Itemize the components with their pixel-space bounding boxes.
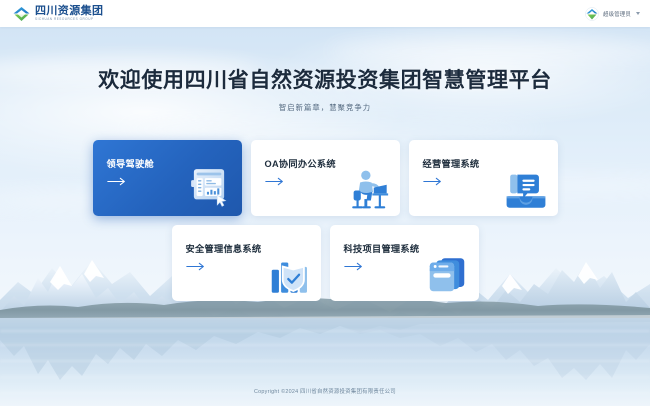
- cloud-wisp: [120, 120, 540, 138]
- hero-section: 欢迎使用四川省自然资源投资集团智慧管理平台 智启新篇章，慧聚竞争力: [0, 27, 650, 113]
- brand-name-en: SICHUAN RESOURCES GROUP: [35, 16, 103, 21]
- page-footer: Copyright ©2024 四川省自然资源投资集团有限责任公司: [0, 387, 650, 395]
- arrow-right-icon: [107, 177, 128, 186]
- system-entry-cards: 领导驾驶舱: [0, 140, 650, 301]
- card-label: 安全管理信息系统: [186, 241, 262, 255]
- water-shimmer: [0, 360, 650, 362]
- card-leadership-cockpit[interactable]: 领导驾驶舱: [93, 140, 242, 216]
- arrow-right-icon: [265, 177, 286, 186]
- page-subtitle: 智启新篇章，慧聚竞争力: [0, 103, 650, 113]
- arrow-right-icon: [186, 262, 207, 271]
- brand-name-cn: 四川资源集团: [35, 6, 103, 17]
- user-avatar-icon: [585, 7, 599, 21]
- card-label: 领导驾驶舱: [107, 156, 154, 170]
- person-at-desk-icon: [345, 166, 391, 212]
- stacked-windows-icon: [424, 251, 470, 297]
- user-name-label: 超级管理员: [603, 10, 631, 18]
- arrow-right-icon: [423, 177, 444, 186]
- water-shimmer: [0, 344, 650, 346]
- document-book-icon: [503, 166, 549, 212]
- water-shimmer: [0, 376, 650, 378]
- card-label: OA协同办公系统: [265, 156, 336, 170]
- app-header: 四川资源集团 SICHUAN RESOURCES GROUP 超级管理员: [0, 0, 650, 27]
- lake-reflection: [0, 318, 650, 380]
- user-menu[interactable]: 超级管理员: [585, 7, 640, 21]
- card-oa-system[interactable]: OA协同办公系统: [251, 140, 400, 216]
- bar-chart-shield-icon: [266, 251, 312, 297]
- card-label: 经营管理系统: [423, 156, 480, 170]
- chevron-down-icon[interactable]: [636, 12, 640, 15]
- card-row-2: 安全管理信息系统 科技项目管理系统: [0, 225, 650, 301]
- card-row-1: 领导驾驶舱: [0, 140, 650, 216]
- dashboard-report-icon: [187, 165, 231, 209]
- card-tech-project-management[interactable]: 科技项目管理系统: [330, 225, 479, 301]
- card-safety-management[interactable]: 安全管理信息系统: [172, 225, 321, 301]
- water-shimmer: [0, 330, 650, 332]
- card-label: 科技项目管理系统: [344, 241, 420, 255]
- copyright-text: Copyright ©2024 四川省自然资源投资集团有限责任公司: [0, 387, 650, 395]
- mountain-diamond-logo-icon: [13, 6, 30, 22]
- arrow-right-icon: [344, 262, 365, 271]
- brand-logo[interactable]: 四川资源集团 SICHUAN RESOURCES GROUP: [13, 6, 103, 22]
- page-title: 欢迎使用四川省自然资源投资集团智慧管理平台: [0, 68, 650, 94]
- card-business-management[interactable]: 经营管理系统: [409, 140, 558, 216]
